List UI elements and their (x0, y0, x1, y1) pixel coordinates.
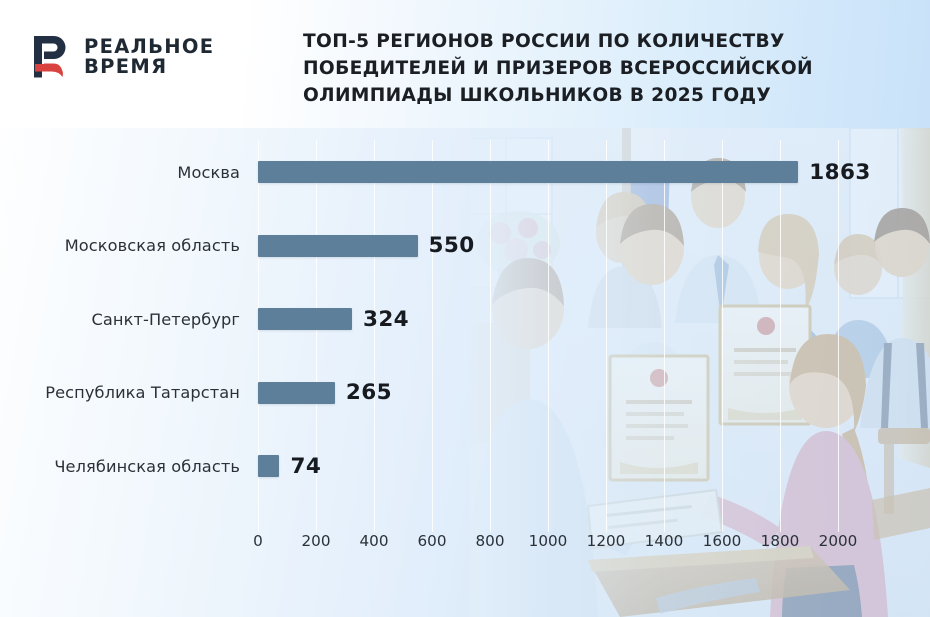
bar (258, 161, 798, 183)
bar (258, 308, 352, 330)
chart-row: Челябинская область74 (0, 451, 930, 481)
brand-logo: РЕАЛЬНОЕ ВРЕМЯ (30, 33, 214, 81)
bar-category-label: Челябинская область (0, 457, 240, 476)
x-axis-tick-label: 200 (302, 532, 331, 550)
x-axis-tick-label: 0 (253, 532, 263, 550)
bar-value-label: 265 (346, 380, 392, 405)
bar-value-label: 550 (429, 233, 475, 258)
bar-value-label: 74 (290, 454, 321, 479)
x-axis-tick-label: 1600 (703, 532, 742, 550)
x-axis-tick-label: 1800 (761, 532, 800, 550)
chart-row: Москва1863 (0, 157, 930, 187)
title-line-2: ПОБЕДИТЕЛЕЙ И ПРИЗЕРОВ ВСЕРОССИЙСКОЙ (303, 55, 903, 82)
x-axis-tick-label: 1400 (645, 532, 684, 550)
page-title: ТОП-5 РЕГИОНОВ РОССИИ ПО КОЛИЧЕСТВУ ПОБЕ… (303, 28, 903, 109)
x-axis-tick-label: 800 (476, 532, 505, 550)
x-axis: 0200400600800100012001400160018002000 (0, 532, 930, 562)
brand-name-line2: ВРЕМЯ (84, 57, 214, 77)
title-line-1: ТОП-5 РЕГИОНОВ РОССИИ ПО КОЛИЧЕСТВУ (303, 28, 903, 55)
bar-category-label: Санкт-Петербург (0, 310, 240, 329)
bar (258, 382, 335, 404)
bar-category-label: Московская область (0, 236, 240, 255)
bar (258, 455, 279, 477)
chart-row: Санкт-Петербург324 (0, 304, 930, 334)
realnoe-vremya-logo-icon (30, 33, 74, 81)
bar-value-label: 324 (363, 307, 409, 332)
chart-row: Республика Татарстан265 (0, 378, 930, 408)
brand-name-line1: РЕАЛЬНОЕ (84, 37, 214, 57)
infographic-header: РЕАЛЬНОЕ ВРЕМЯ ТОП-5 РЕГИОНОВ РОССИИ ПО … (0, 0, 930, 128)
bar-chart: Москва1863Московская область550Санкт-Пет… (0, 128, 930, 617)
chart-row: Московская область550 (0, 231, 930, 261)
chart-bars-area: Москва1863Московская область550Санкт-Пет… (0, 128, 930, 538)
x-axis-tick-label: 2000 (819, 532, 858, 550)
bar-value-label: 1863 (809, 160, 870, 185)
bar-category-label: Москва (0, 163, 240, 182)
x-axis-tick-label: 600 (418, 532, 447, 550)
bar (258, 235, 418, 257)
title-line-3: ОЛИМПИАДЫ ШКОЛЬНИКОВ В 2025 ГОДУ (303, 82, 903, 109)
infographic-canvas: РЕАЛЬНОЕ ВРЕМЯ ТОП-5 РЕГИОНОВ РОССИИ ПО … (0, 0, 930, 617)
x-axis-tick-label: 1000 (529, 532, 568, 550)
x-axis-tick-label: 1200 (587, 532, 626, 550)
bar-category-label: Республика Татарстан (0, 383, 240, 402)
brand-wordmark: РЕАЛЬНОЕ ВРЕМЯ (84, 37, 214, 78)
x-axis-tick-label: 400 (360, 532, 389, 550)
